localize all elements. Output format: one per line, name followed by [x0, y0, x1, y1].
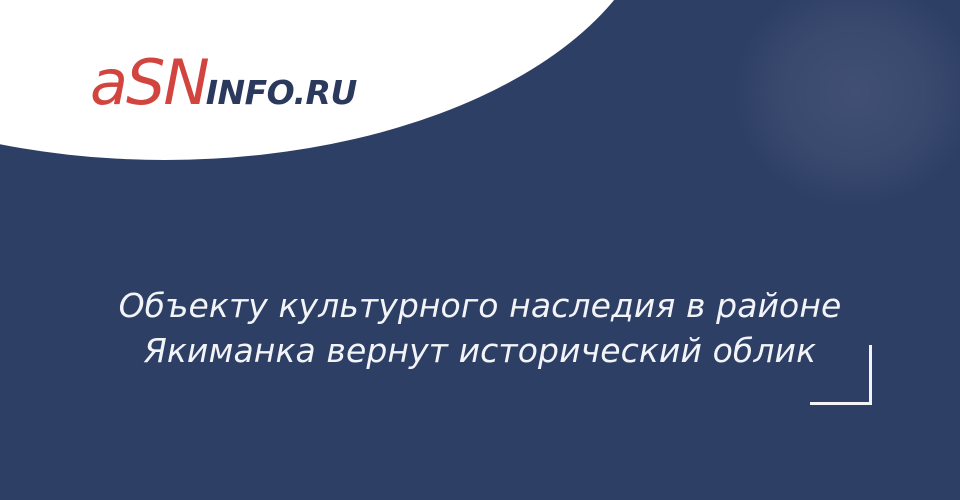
radial-glow-decoration: [735, 0, 960, 205]
bracket-vertical-line: [869, 345, 872, 405]
headline-line-2: Якиманка вернут исторический облик: [70, 328, 890, 373]
asninfo-logo[interactable]: aSN INFO.RU: [90, 52, 357, 114]
logo-primary-text: aSN: [90, 52, 208, 114]
news-cover-card: aSN INFO.RU Объекту культурного наследия…: [0, 0, 960, 500]
corner-bracket-decoration: [810, 345, 872, 405]
logo-secondary-text: INFO.RU: [206, 76, 357, 109]
headline-line-1: Объекту культурного наследия в районе: [70, 283, 890, 328]
bracket-horizontal-line: [810, 402, 872, 405]
